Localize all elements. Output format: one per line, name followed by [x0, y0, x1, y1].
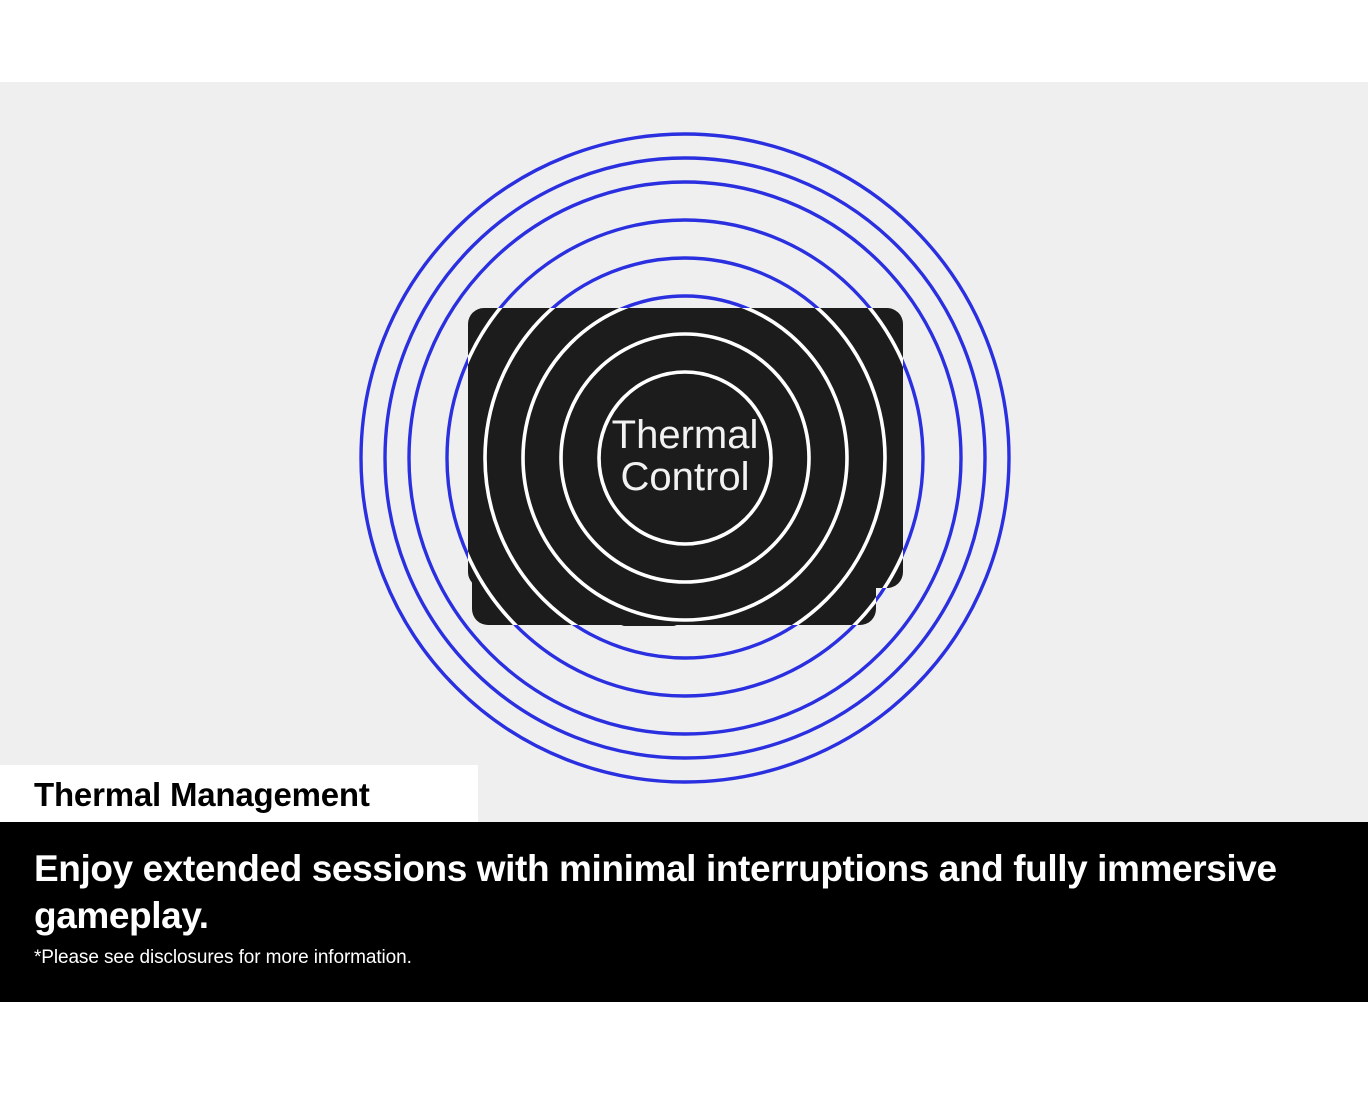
section-label-chip: Thermal Management [0, 765, 478, 822]
bottom-white-area [0, 1002, 1368, 1094]
thermal-control-label-line1: Thermal [612, 413, 759, 457]
thermal-management-banner: Thermal Control Thermal Management Enjoy… [0, 0, 1368, 1094]
caption-disclaimer: *Please see disclosures for more informa… [34, 947, 1334, 970]
section-label-text: Thermal Management [34, 778, 370, 811]
hero-area: Thermal Control Thermal Management [0, 0, 1368, 822]
thermal-control-label-line2: Control [621, 455, 750, 499]
caption-headline: Enjoy extended sessions with minimal int… [34, 846, 1334, 939]
caption-band: Enjoy extended sessions with minimal int… [0, 822, 1368, 1002]
thermal-control-graphic: Thermal Control [0, 0, 1368, 822]
